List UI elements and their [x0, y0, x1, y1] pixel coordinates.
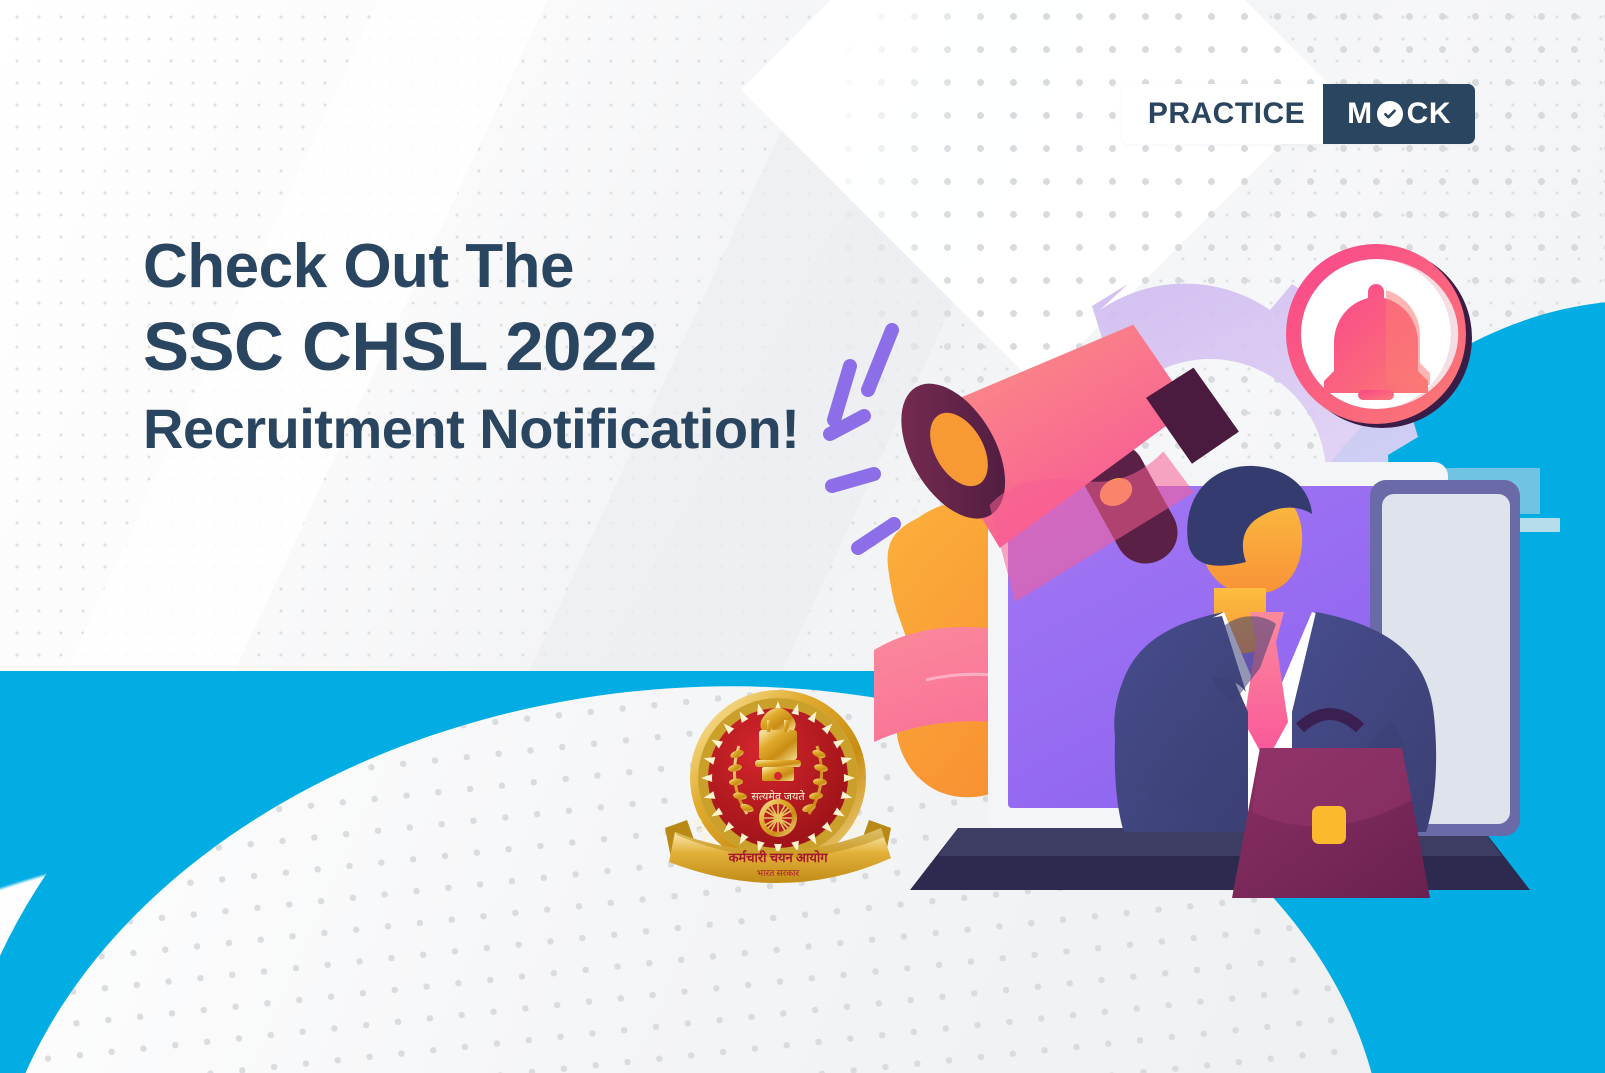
logo-mock-block: M CK	[1323, 84, 1475, 144]
check-icon	[1377, 101, 1403, 127]
headline-line-3: Recruitment Notification!	[143, 401, 799, 457]
announcement-illustration	[830, 250, 1570, 950]
page-title: Check Out The SSC CHSL 2022 Recruitment …	[143, 236, 799, 457]
logo-practice-text: PRACTICE	[1122, 84, 1323, 144]
logo-mock-m: M	[1347, 97, 1373, 131]
emblem-ribbon-line1: कर्मचारी चयन आयोग	[727, 850, 828, 865]
promo-banner: PRACTICE M CK Check Out The SSC CHSL 202…	[0, 0, 1605, 1073]
logo-mock-ck: CK	[1407, 97, 1451, 131]
emblem-ribbon-line2: भारत सरकार	[757, 868, 800, 878]
sound-rays-icon	[830, 330, 894, 548]
headline-line-1: Check Out The	[143, 236, 799, 298]
ashoka-chakra-icon	[759, 799, 797, 837]
practicemock-logo[interactable]: PRACTICE M CK	[1122, 84, 1475, 144]
headline-line-2: SSC CHSL 2022	[143, 312, 799, 381]
ssc-emblem: सत्यमेव जयते	[663, 676, 893, 886]
